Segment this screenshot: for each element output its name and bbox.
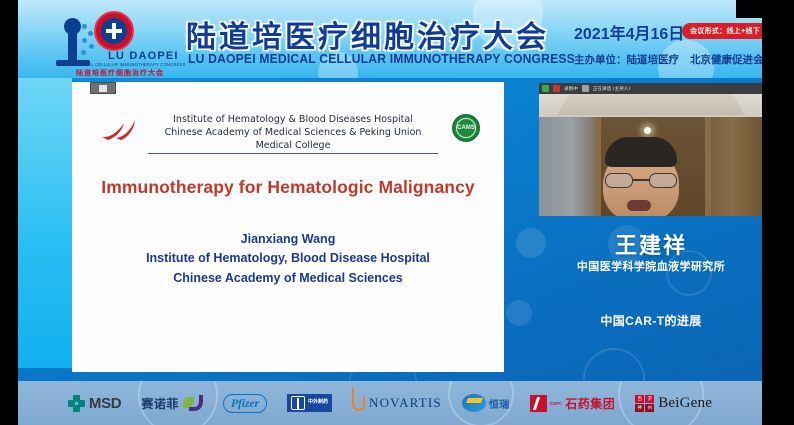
slide-affiliation-line2: Chinese Academy of Medical Sciences xyxy=(72,269,504,288)
sponsor-novartis: NOVARTIS xyxy=(352,395,442,411)
congress-header-banner: LU DAOPEI MEDICAL CELLULAR IMMUNOTHERAPY… xyxy=(18,0,762,78)
chugai-icon: 中外制药 xyxy=(287,394,332,412)
speaker-name: 王建祥 xyxy=(539,228,762,260)
sponsor-label: 石药集团 xyxy=(565,395,615,412)
recording-icon[interactable] xyxy=(553,85,560,92)
recording-label: 录制中 xyxy=(564,86,578,92)
pfizer-pill-icon: Pfizer xyxy=(223,394,267,413)
slide-title: Immunotherapy for Hematologic Malignancy xyxy=(72,177,504,198)
lu-daopei-emblem-icon xyxy=(94,11,134,51)
cams-seal-icon: CAMS xyxy=(452,114,480,142)
letterbox-left xyxy=(0,0,18,425)
sponsor-label: NOVARTIS xyxy=(369,395,442,411)
video-status-bar[interactable]: 录制中 正在讲话 (主持人) xyxy=(539,83,762,94)
lu-daopei-logo: LU DAOPEI MEDICAL CELLULAR IMMUNOTHERAPY… xyxy=(46,10,186,72)
microphone-icon[interactable] xyxy=(582,85,589,92)
congress-title-cn: 陆道培医疗细胞治疗大会 xyxy=(186,12,549,56)
beigene-icon: 百济神州 xyxy=(635,395,654,412)
sponsor-label: BeiGene xyxy=(658,395,712,412)
sponsor-pfizer: Pfizer xyxy=(223,394,267,413)
sponsor-label: MSD xyxy=(89,395,121,412)
sponsor-cspc: CSPC 石药集团 xyxy=(530,395,616,412)
slide-author-block: Jianxiang Wang Institute of Hematology, … xyxy=(72,230,504,288)
video-ceiling-light xyxy=(644,127,651,134)
cams-seal-text: CAMS xyxy=(456,118,476,138)
speaker-affiliation: 中国医学科学院血液学研究所 xyxy=(519,258,762,274)
broadcast-canvas: LU DAOPEI MEDICAL CELLULAR IMMUNOTHERAPY… xyxy=(18,0,762,425)
cspc-icon xyxy=(530,395,547,412)
logo-subtitle-cn: 陆道培医疗细胞治疗大会 xyxy=(76,68,164,78)
speaker-topic: 中国CAR-T的进展 xyxy=(539,312,762,329)
shared-slide[interactable]: Institute of Hematology & Blood Diseases… xyxy=(72,82,504,372)
slide-institution-line2: Chinese Academy of Medical Sciences & Pe… xyxy=(148,127,438,155)
participant-label: 正在讲话 (主持人) xyxy=(593,86,630,92)
sponsor-chugai: 中外制药 xyxy=(287,394,332,412)
pumc-swoosh-icon xyxy=(100,116,142,142)
logo-subtitle-en: MEDICAL CELLULAR IMMUNOTHERAPY CONGRESS xyxy=(74,62,186,68)
speaker-video-tile[interactable]: 录制中 正在讲话 (主持人) xyxy=(539,83,762,216)
slide-affiliation-line1: Institute of Hematology, Blood Disease H… xyxy=(72,249,504,268)
decorative-bubble xyxy=(506,300,532,326)
congress-format-badge: 会议形式：线上+线下 xyxy=(682,23,762,39)
sanofi-leaf-icon xyxy=(183,395,203,412)
slide-author-name: Jianxiang Wang xyxy=(72,230,504,249)
congress-date: 2021年4月16日 xyxy=(574,20,684,44)
slide-institution-line1: Institute of Hematology & Blood Diseases… xyxy=(148,114,438,127)
logo-figure-icon xyxy=(54,18,98,66)
sponsor-sanofi: 赛诺菲 xyxy=(141,395,203,412)
hengrui-icon xyxy=(462,394,486,412)
logo-wordmark: LU DAOPEI xyxy=(108,50,179,62)
congress-organizer: 主办单位：陆道培医疗 xyxy=(574,52,679,67)
msd-clover-icon xyxy=(68,395,85,412)
sponsor-bar: MSD 赛诺菲 Pfizer 中外制药 NOVARTIS xyxy=(18,381,762,425)
letterbox-top-right xyxy=(736,0,762,18)
sponsor-label: 赛诺菲 xyxy=(141,395,179,412)
congress-title-en: LU DAOPEI MEDICAL CELLULAR IMMUNOTHERAPY… xyxy=(188,52,575,66)
speaker-portrait xyxy=(589,137,693,216)
congress-organizer-second: 北京健康促进会 xyxy=(690,52,762,67)
sponsor-msd: MSD xyxy=(68,395,121,412)
eyeglasses-icon xyxy=(605,173,677,188)
novartis-flame-icon xyxy=(352,396,365,411)
slide-institution-header: Institute of Hematology & Blood Diseases… xyxy=(72,104,504,156)
video-wall-right xyxy=(711,117,762,216)
sponsor-hengrui: 恒瑞 xyxy=(462,394,510,412)
letterbox-right xyxy=(762,0,794,425)
slide-control-handle[interactable] xyxy=(90,82,116,94)
sponsor-beigene: 百济神州 BeiGene xyxy=(635,395,712,412)
sponsor-label: 中外制药 xyxy=(308,400,328,406)
left-frame-strip xyxy=(18,78,72,368)
sponsor-label: 恒瑞 xyxy=(489,396,510,411)
broadcast-stage: LU DAOPEI MEDICAL CELLULAR IMMUNOTHERAPY… xyxy=(0,0,794,425)
sponsor-sublabel: CSPC xyxy=(550,401,563,406)
camera-on-icon[interactable] xyxy=(542,85,549,92)
